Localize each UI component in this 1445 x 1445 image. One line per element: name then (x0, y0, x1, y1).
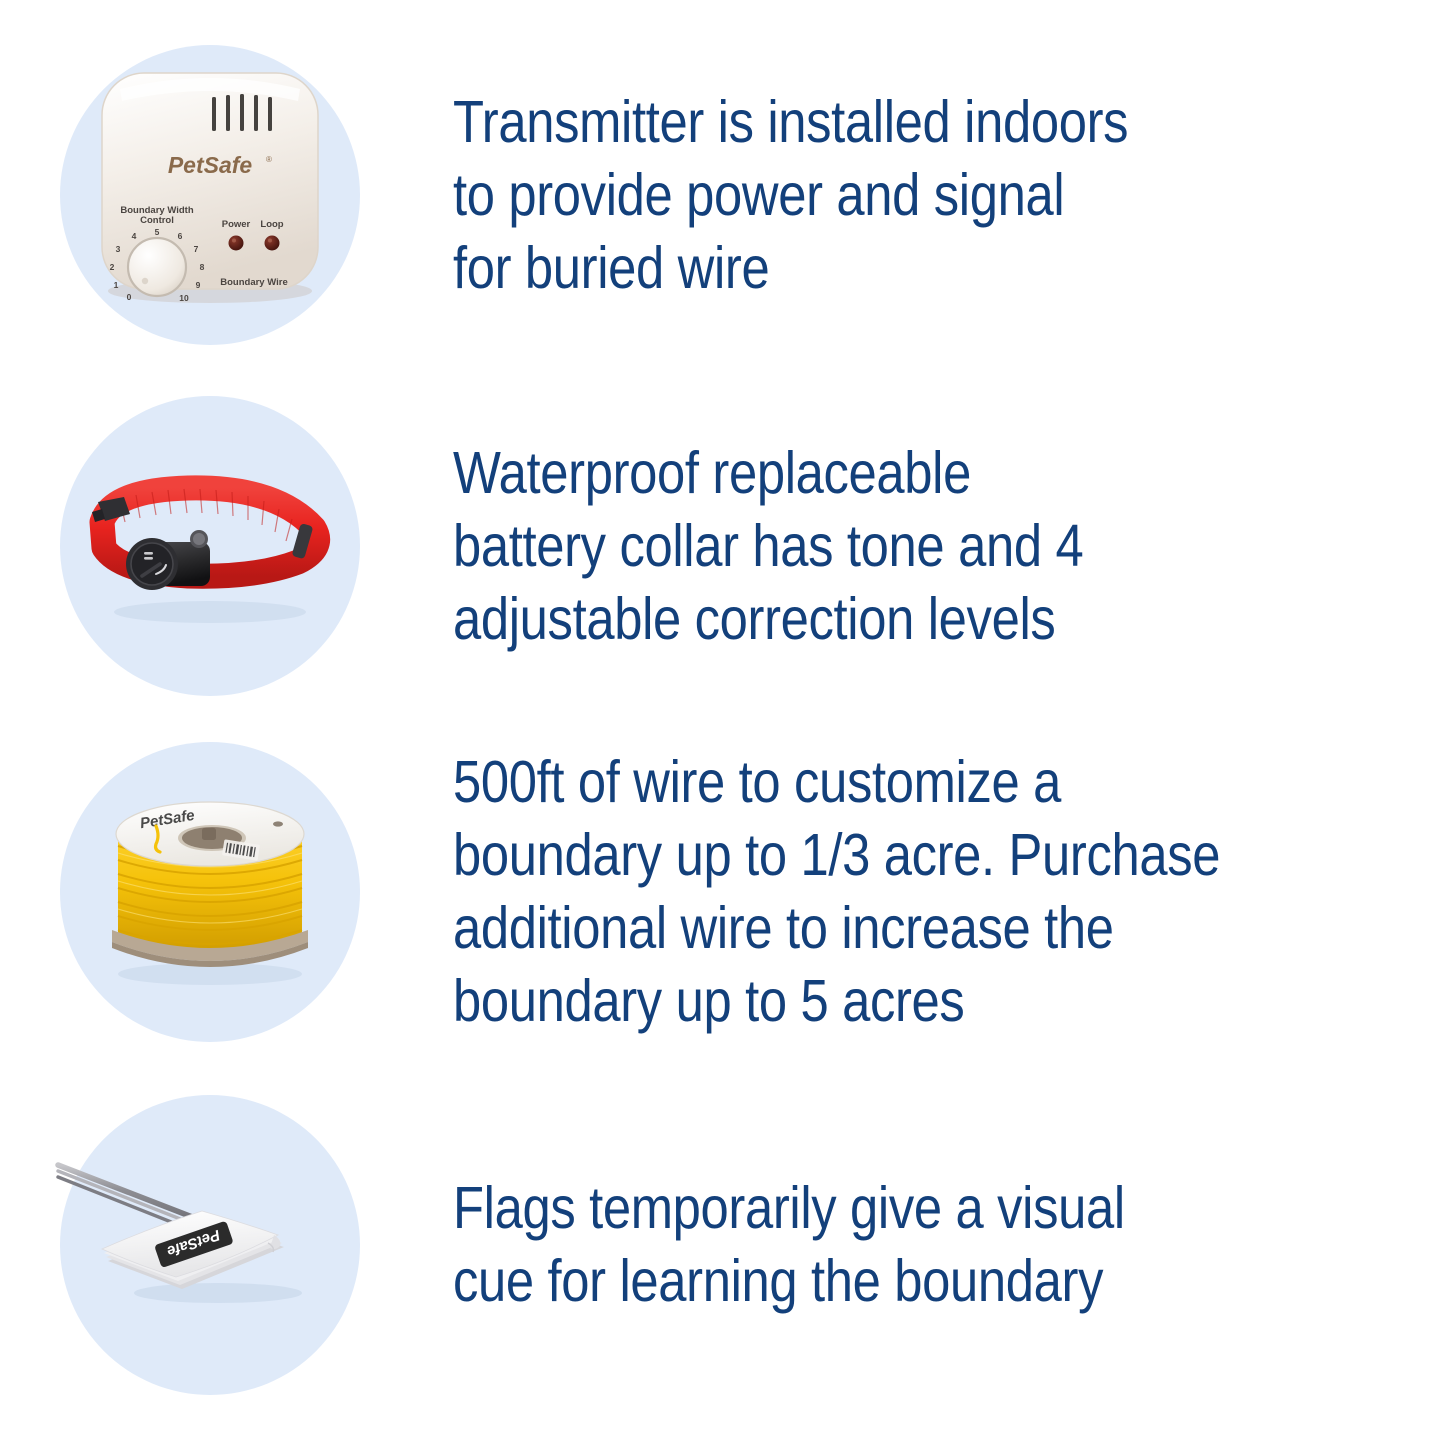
dial-label-line2: Control (140, 215, 174, 226)
collar-receiver-box (126, 530, 210, 590)
media-column-flags: PetSafe (0, 1095, 420, 1395)
svg-text:4: 4 (132, 231, 137, 241)
svg-text:5: 5 (155, 227, 160, 237)
feature-infographic: PetSafe ® Boundary Width Control 5 4 3 2… (0, 0, 1445, 1445)
svg-text:7: 7 (194, 244, 199, 254)
transmitter-brand-label: PetSafe (168, 152, 253, 178)
feature-text-collar: Waterproof replaceable battery collar ha… (453, 437, 1246, 656)
feature-row-flags: PetSafe Flags temporarily give a visual … (0, 1095, 1445, 1395)
circle-background-collar (60, 396, 360, 696)
media-column-transmitter: PetSafe ® Boundary Width Control 5 4 3 2… (0, 45, 420, 345)
feature-row-wire: PetSafe 500ft of wire to c (0, 743, 1445, 1041)
circle-background-transmitter: PetSafe ® Boundary Width Control 5 4 3 2… (60, 45, 360, 345)
svg-text:®: ® (266, 155, 272, 164)
led-power-label: Power (222, 219, 251, 230)
circle-background-flags: PetSafe (60, 1095, 360, 1395)
svg-text:9: 9 (196, 280, 201, 290)
boundary-wire-spool-product-photo: PetSafe (60, 742, 360, 1042)
feature-text-flags: Flags temporarily give a visual cue for … (453, 1172, 1246, 1318)
media-column-collar (0, 396, 420, 696)
feature-text-transmitter: Transmitter is installed indoors to prov… (453, 86, 1246, 305)
boundary-training-flags-product-photo: PetSafe (60, 1095, 360, 1395)
feature-text-wire: 500ft of wire to customize a boundary up… (453, 746, 1298, 1038)
receiver-collar-product-photo (60, 396, 360, 696)
transmitter-product-photo: PetSafe ® Boundary Width Control 5 4 3 2… (60, 45, 360, 345)
feature-row-transmitter: PetSafe ® Boundary Width Control 5 4 3 2… (0, 45, 1445, 345)
svg-text:3: 3 (116, 244, 121, 254)
circle-background-wire: PetSafe (60, 742, 360, 1042)
media-column-wire: PetSafe (0, 742, 420, 1042)
text-column-wire: 500ft of wire to customize a boundary up… (420, 746, 1445, 1038)
svg-text:2: 2 (110, 262, 115, 272)
led-loop-label: Loop (260, 219, 283, 230)
svg-text:1: 1 (114, 280, 119, 290)
svg-text:6: 6 (178, 231, 183, 241)
text-column-transmitter: Transmitter is installed indoors to prov… (420, 86, 1445, 305)
svg-text:0: 0 (127, 292, 132, 302)
svg-text:10: 10 (179, 293, 189, 303)
text-column-collar: Waterproof replaceable battery collar ha… (420, 437, 1445, 656)
boundary-wire-label: Boundary Wire (220, 277, 287, 288)
text-column-flags: Flags temporarily give a visual cue for … (420, 1172, 1445, 1318)
feature-row-collar: Waterproof replaceable battery collar ha… (0, 398, 1445, 694)
svg-text:8: 8 (200, 262, 205, 272)
